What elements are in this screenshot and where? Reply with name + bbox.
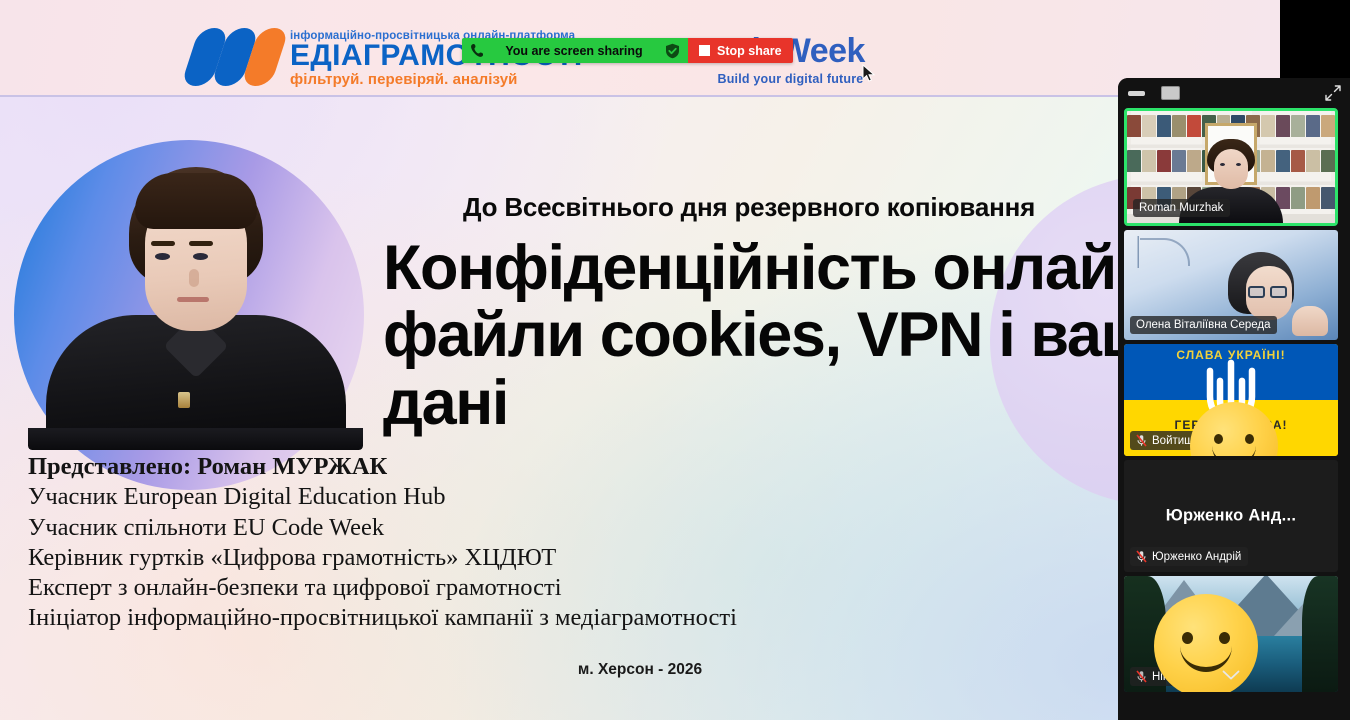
screen-share-message: You are screen sharing (493, 44, 655, 58)
screen-share-status: You are screen sharing (462, 38, 688, 63)
screen-share-banner: You are screen sharing Stop share (462, 38, 793, 63)
video-panel-toolbar (1118, 78, 1350, 108)
glasses-icon (1248, 286, 1290, 299)
credential-line: Експерт з онлайн-безпеки та цифрової гра… (28, 573, 858, 603)
speaker-credentials: Представлено: Роман МУРЖАК Учасник Europ… (28, 452, 858, 634)
split-view-icon[interactable] (1196, 86, 1215, 101)
mic-muted-icon (1136, 550, 1147, 563)
lapel-pin-icon (178, 392, 190, 408)
stop-share-label: Stop share (717, 44, 782, 58)
participant-name-label: Юрженко Андрій (1130, 547, 1248, 566)
mic-muted-icon (1136, 670, 1147, 683)
credential-line: Учасник спільноти EU Code Week (28, 513, 858, 543)
speaker-head (121, 167, 271, 372)
slide-title: Конфіденційність онлайн: файли cookies, … (383, 235, 1173, 437)
credential-line: Ініціатор інформаційно-просвітницької ка… (28, 603, 858, 633)
slide-eyebrow: До Всесвітнього дня резервного копіюванн… (463, 192, 1163, 223)
speaker-photo (28, 145, 363, 450)
credential-line: Представлено: Роман МУРЖАК (28, 452, 858, 482)
participant-tile-yurzhenko[interactable]: Юрженко Анд... Юрженко Андрій (1124, 460, 1338, 572)
video-conference-panel: Roman Murzhak Олена Віталіївна Середа (1118, 78, 1350, 720)
credential-line: Учасник European Digital Education Hub (28, 482, 858, 512)
slide-place-date: м. Херсон - 2026 (0, 661, 1280, 679)
expand-icon[interactable] (1324, 84, 1342, 102)
phone-icon (470, 43, 483, 58)
stop-share-button[interactable]: Stop share (688, 38, 793, 63)
smiley-reaction-icon (1154, 594, 1258, 692)
roman-avatar (1205, 139, 1257, 199)
media-logo-mark-icon (190, 28, 284, 86)
participant-name-label: Roman Murzhak (1133, 199, 1230, 217)
participant-tile-voytyshenko[interactable]: СЛАВА УКРАЇНІ! ГЕРОЯМ СЛАВА! Войтишенко (1124, 344, 1338, 456)
stop-square-icon (699, 45, 710, 56)
participant-tile-roman[interactable]: Roman Murzhak (1124, 108, 1338, 226)
background-signature-watermark (1134, 236, 1194, 268)
single-view-icon[interactable] (1161, 86, 1180, 100)
grid-view-icon[interactable] (1231, 85, 1248, 102)
media-logo-tagline: фільтруй. перевіряй. аналізуй (290, 71, 583, 88)
trees-right (1302, 576, 1338, 692)
participant-tile-olena[interactable]: Олена Віталіївна Середа (1124, 230, 1338, 340)
credential-line: Керівник гуртків «Цифрова грамотність» Х… (28, 543, 858, 573)
shield-check-icon (665, 43, 680, 59)
participant-name-label: Олена Віталіївна Середа (1130, 316, 1277, 334)
codeweek-tagline: Build your digital future (716, 72, 865, 86)
participant-display-name: Юрженко Анд... (1124, 507, 1338, 526)
minimize-icon[interactable] (1128, 91, 1145, 96)
shared-slide: інформаційно-просвітницька онлайн-платфо… (0, 0, 1280, 720)
mic-muted-icon (1136, 434, 1147, 447)
chevron-down-icon[interactable] (1222, 668, 1240, 686)
participant-tiles: Roman Murzhak Олена Віталіївна Середа (1118, 108, 1350, 720)
screen: інформаційно-просвітницька онлайн-платфо… (0, 0, 1350, 720)
participant-tile-nikita[interactable]: Нікіта Нечаєв (1124, 576, 1338, 692)
